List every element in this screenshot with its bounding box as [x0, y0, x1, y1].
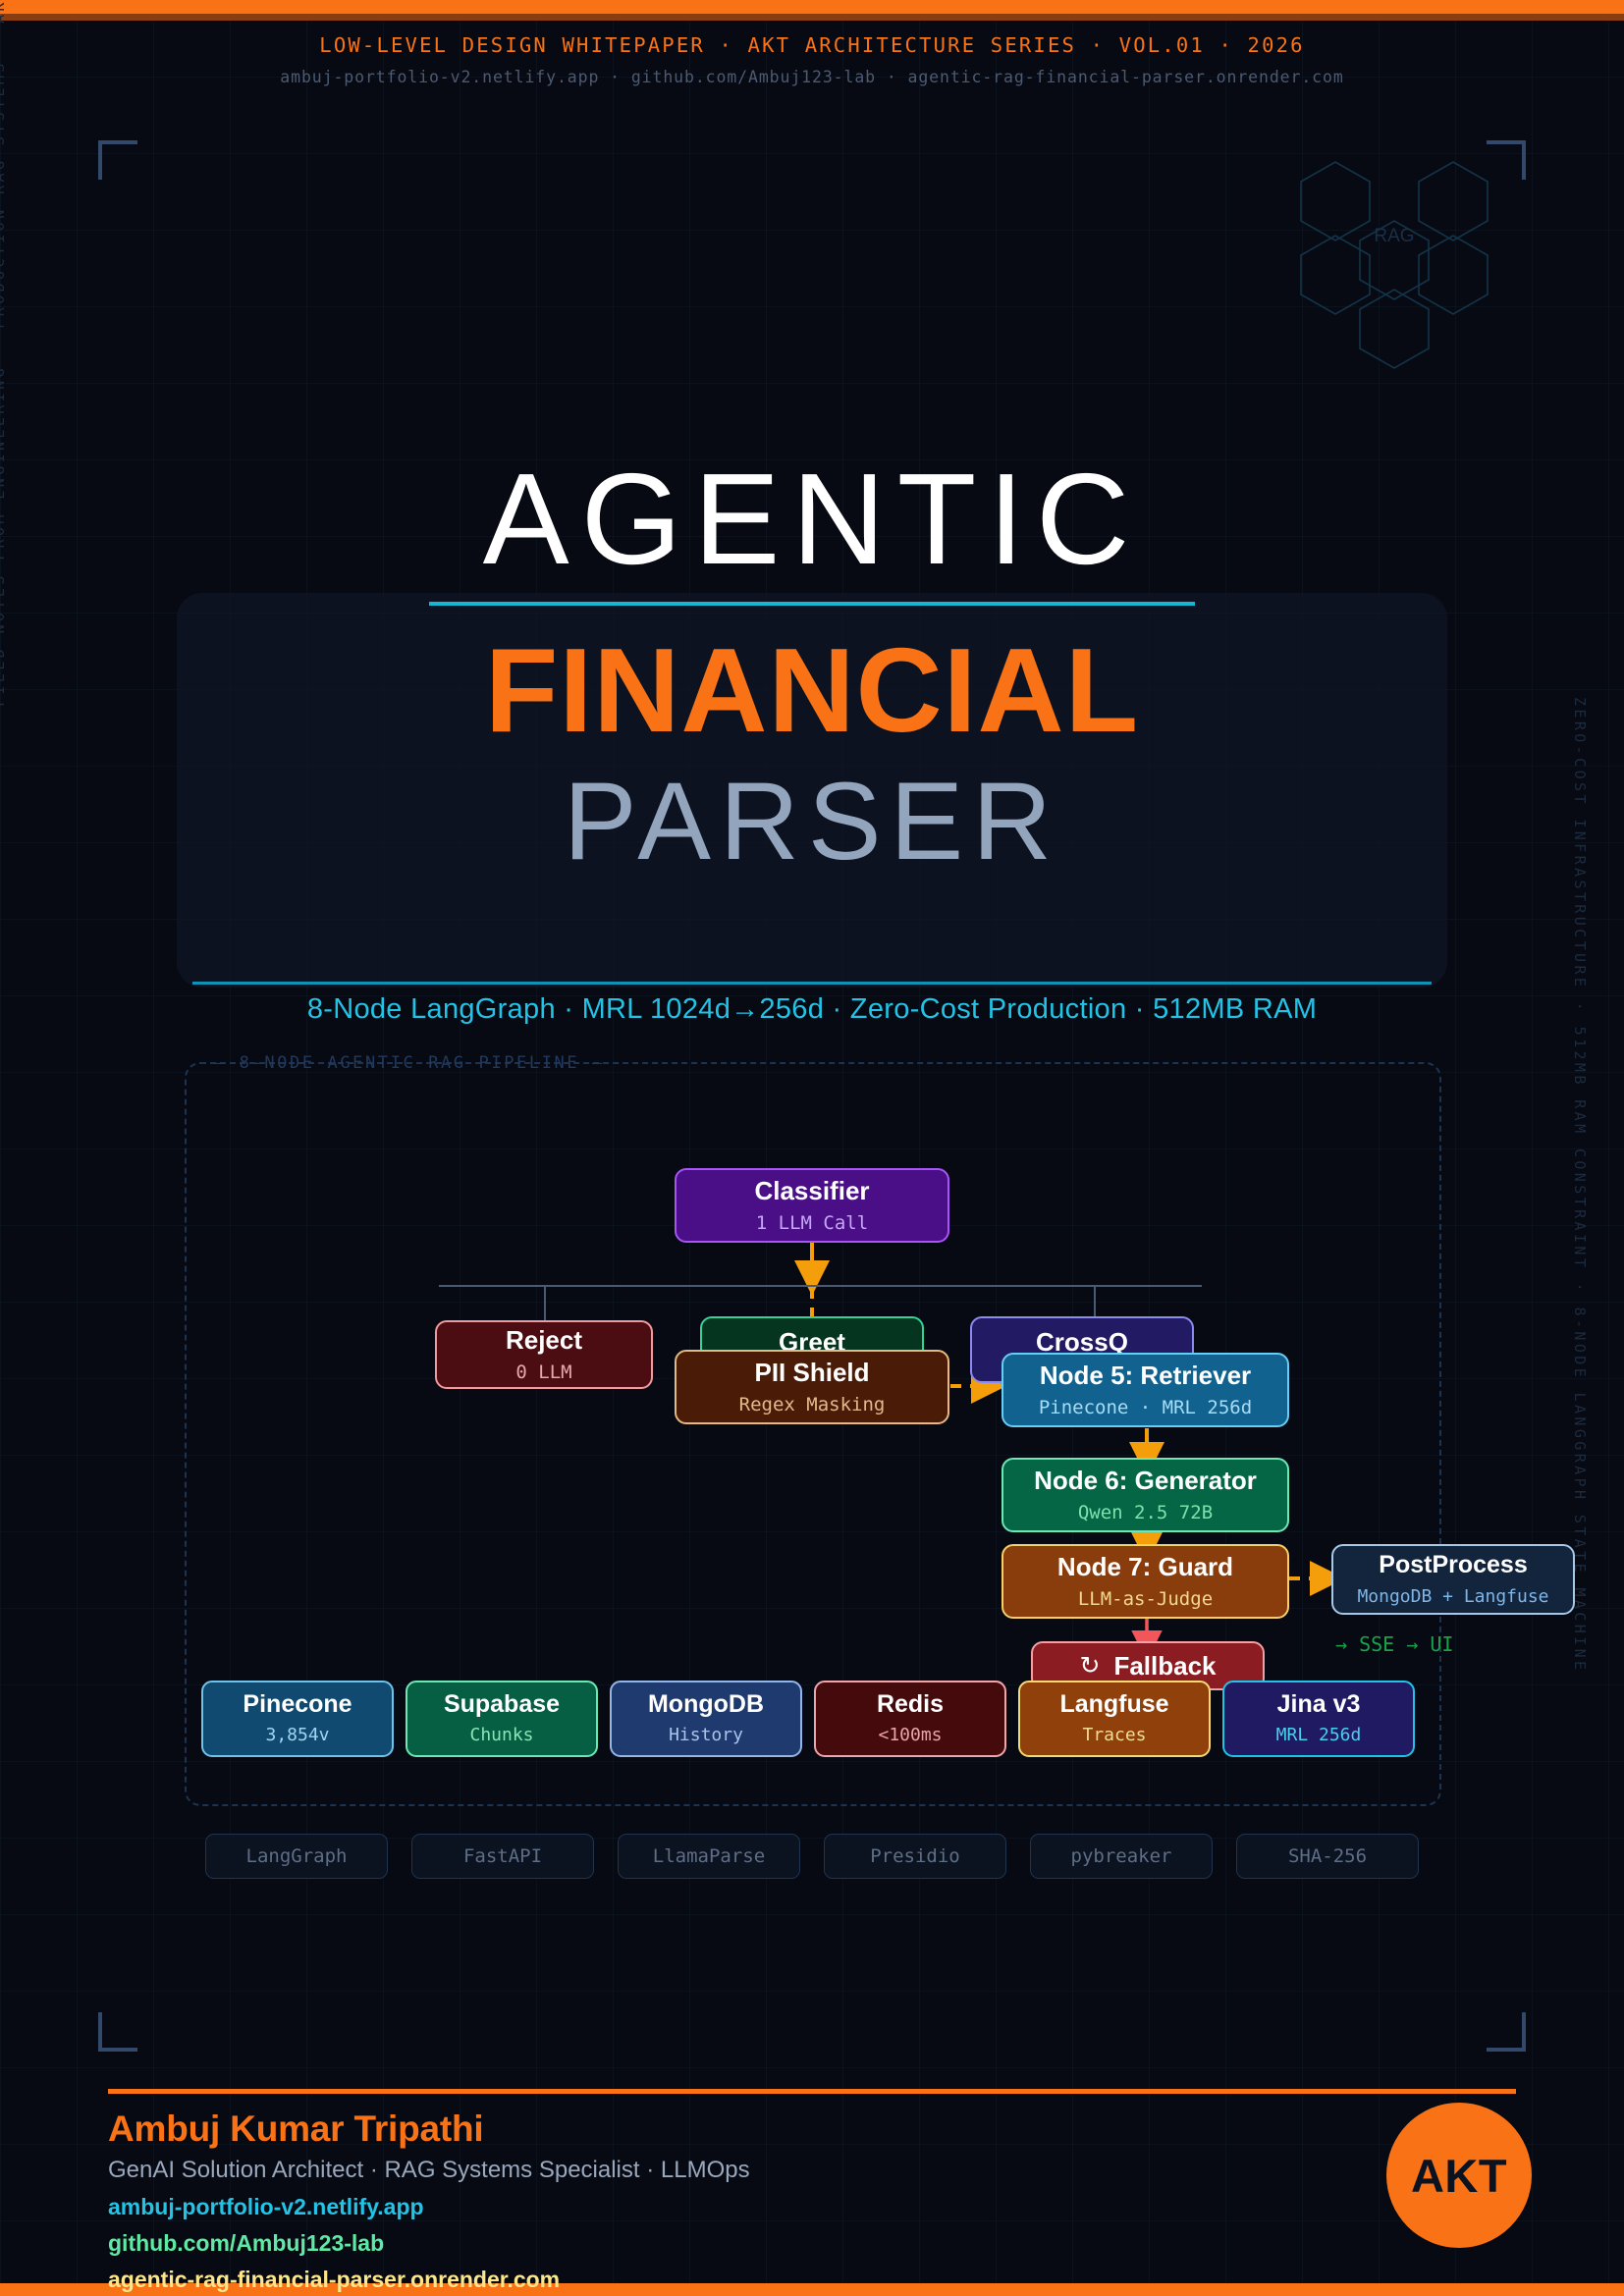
chip-mongodb[interactable]: MongoDB History — [610, 1681, 802, 1757]
sse-note: → SSE → UI — [1335, 1632, 1453, 1656]
top-accent-bar — [0, 0, 1624, 14]
footer-link-portfolio[interactable]: ambuj-portfolio-v2.netlify.app — [108, 2194, 1384, 2220]
chip-langfuse[interactable]: Langfuse Traces — [1018, 1681, 1211, 1757]
tech-tag-row: LangGraph FastAPI LlamaParse Presidio py… — [0, 1834, 1624, 1879]
chip-supabase-sub: Chunks — [469, 1725, 533, 1745]
chip-jina-v3[interactable]: Jina v3 MRL 256d — [1222, 1681, 1415, 1757]
footer-divider — [108, 2089, 1516, 2094]
footer-link-github[interactable]: github.com/Ambuj123-lab — [108, 2230, 1384, 2257]
akt-logo-badge: AKT — [1386, 2103, 1532, 2248]
title-line-agentic: AGENTIC — [0, 452, 1624, 588]
node-classifier-sub: 1 LLM Call — [756, 1212, 868, 1234]
node-reject-title: Reject — [506, 1326, 582, 1355]
tag-llamaparse[interactable]: LlamaParse — [618, 1834, 800, 1879]
author-role: GenAI Solution Architect · RAG Systems S… — [108, 2157, 1384, 2184]
node-classifier[interactable]: Classifier 1 LLM Call — [675, 1168, 949, 1243]
top-accent-bar-secondary — [0, 14, 1624, 21]
chip-langfuse-name: Langfuse — [1059, 1692, 1168, 1717]
node-retriever-title: Node 5: Retriever — [1040, 1362, 1251, 1390]
chip-pinecone-name: Pinecone — [243, 1692, 352, 1717]
chip-supabase-name: Supabase — [444, 1692, 560, 1717]
footer-link-demo[interactable]: agentic-rag-financial-parser.onrender.co… — [108, 2267, 1384, 2293]
tag-presidio[interactable]: Presidio — [824, 1834, 1006, 1879]
chip-redis-name: Redis — [877, 1692, 944, 1717]
tag-langgraph[interactable]: LangGraph — [205, 1834, 388, 1879]
node-generator-sub: Qwen 2.5 72B — [1078, 1502, 1213, 1523]
node-pii-shield-title: PII Shield — [754, 1359, 869, 1387]
title-divider — [429, 602, 1195, 606]
node-guard[interactable]: Node 7: Guard LLM-as-Judge — [1001, 1544, 1289, 1619]
node-reject[interactable]: Reject 0 LLM — [435, 1320, 653, 1389]
header-meta: LOW-LEVEL DESIGN WHITEPAPER · AKT ARCHIT… — [0, 21, 1624, 94]
corner-bracket-bottom-right — [1487, 2012, 1526, 2052]
chip-mongodb-name: MongoDB — [648, 1692, 764, 1717]
hexagon-watermark-icon: RAG — [1267, 147, 1522, 373]
node-postprocess-title: PostProcess — [1379, 1552, 1527, 1579]
subtitle-divider — [192, 982, 1432, 985]
tag-sha-256[interactable]: SHA-256 — [1236, 1834, 1419, 1879]
chip-redis[interactable]: Redis <100ms — [814, 1681, 1006, 1757]
title-line-financial: FINANCIAL — [0, 621, 1624, 759]
node-classifier-title: Classifier — [754, 1177, 869, 1205]
node-fallback-title: Fallback — [1113, 1652, 1216, 1681]
footer-block: Ambuj Kumar Tripathi GenAI Solution Arch… — [108, 2109, 1384, 2293]
chip-mongodb-sub: History — [669, 1725, 743, 1745]
corner-bracket-top-left — [98, 140, 137, 180]
node-generator[interactable]: Node 6: Generator Qwen 2.5 72B — [1001, 1458, 1289, 1532]
node-postprocess[interactable]: PostProcess MongoDB + Langfuse — [1331, 1544, 1575, 1615]
title-line-parser: PARSER — [0, 761, 1624, 881]
tag-fastapi[interactable]: FastAPI — [411, 1834, 594, 1879]
node-retriever[interactable]: Node 5: Retriever Pinecone · MRL 256d — [1001, 1353, 1289, 1427]
author-name: Ambuj Kumar Tripathi — [108, 2109, 1384, 2150]
subtitle-text: 8-Node LangGraph · MRL 1024d→256d · Zero… — [0, 993, 1624, 1026]
retry-icon: ↻ — [1079, 1654, 1100, 1679]
node-postprocess-sub: MongoDB + Langfuse — [1357, 1586, 1548, 1607]
node-pii-shield[interactable]: PII Shield Regex Masking — [675, 1350, 949, 1424]
chip-pinecone-sub: 3,854v — [265, 1725, 329, 1745]
header-urls: ambuj-portfolio-v2.netlify.app · github.… — [0, 57, 1624, 86]
node-reject-sub: 0 LLM — [515, 1362, 571, 1383]
title-block: AGENTIC FINANCIAL PARSER — [0, 452, 1624, 881]
chip-supabase[interactable]: Supabase Chunks — [406, 1681, 598, 1757]
node-pii-shield-sub: Regex Masking — [739, 1394, 886, 1415]
node-retriever-sub: Pinecone · MRL 256d — [1039, 1397, 1252, 1418]
node-guard-title: Node 7: Guard — [1057, 1553, 1233, 1581]
pipeline-diagram-label: — 8-NODE AGENTIC RAG PIPELINE — — [214, 1053, 605, 1073]
chip-langfuse-sub: Traces — [1082, 1725, 1146, 1745]
watermark-label: RAG — [1374, 226, 1414, 246]
corner-bracket-bottom-left — [98, 2012, 137, 2052]
chip-redis-sub: <100ms — [878, 1725, 942, 1745]
chip-jina-v3-sub: MRL 256d — [1276, 1725, 1362, 1745]
node-generator-title: Node 6: Generator — [1034, 1467, 1257, 1495]
node-guard-sub: LLM-as-Judge — [1078, 1588, 1213, 1610]
chip-pinecone[interactable]: Pinecone 3,854v — [201, 1681, 394, 1757]
chip-jina-v3-name: Jina v3 — [1277, 1692, 1361, 1717]
header-kicker: LOW-LEVEL DESIGN WHITEPAPER · AKT ARCHIT… — [0, 21, 1624, 57]
tag-pybreaker[interactable]: pybreaker — [1030, 1834, 1213, 1879]
